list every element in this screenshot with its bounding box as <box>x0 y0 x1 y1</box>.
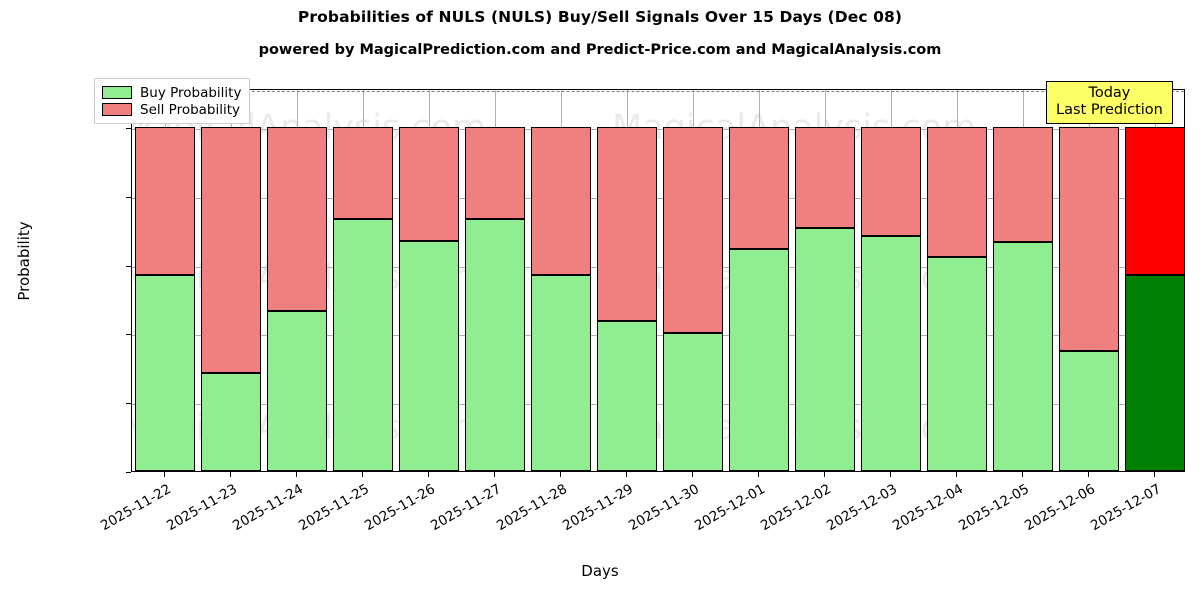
x-tick-mark <box>1022 472 1023 477</box>
bar-series <box>132 90 1184 471</box>
bar-segment-buy[interactable] <box>399 241 459 471</box>
y-tick-mark <box>126 403 131 404</box>
x-tick-mark <box>296 472 297 477</box>
x-tick-mark <box>494 472 495 477</box>
legend-swatch-buy-icon <box>102 86 132 99</box>
x-tick-mark <box>626 472 627 477</box>
today-annotation-line2: Last Prediction <box>1056 102 1163 119</box>
chart-title: Probabilities of NULS (NULS) Buy/Sell Si… <box>0 8 1200 26</box>
x-tick-mark <box>428 472 429 477</box>
bar-group[interactable] <box>267 88 327 471</box>
bar-group[interactable] <box>663 88 723 471</box>
bar-segment-buy[interactable] <box>1125 275 1185 471</box>
bar-segment-sell[interactable] <box>267 127 327 311</box>
bar-group[interactable] <box>795 88 855 471</box>
bar-segment-sell[interactable] <box>1125 127 1185 275</box>
bar-segment-buy[interactable] <box>927 257 987 471</box>
bar-group[interactable] <box>1059 88 1119 471</box>
x-tick-mark <box>1154 472 1155 477</box>
x-tick-mark <box>758 472 759 477</box>
bar-segment-sell[interactable] <box>993 127 1053 242</box>
y-tick-mark <box>126 266 131 267</box>
bar-segment-sell[interactable] <box>1059 127 1119 351</box>
legend-item-sell: Sell Probability <box>102 101 241 118</box>
x-tick-mark <box>230 472 231 477</box>
x-tick-mark <box>560 472 561 477</box>
x-tick-mark <box>362 472 363 477</box>
bar-segment-sell[interactable] <box>927 127 987 257</box>
plot-area: MagicalAnalysis.comMagicalAnalysis.comMa… <box>131 89 1185 472</box>
bar-group[interactable] <box>531 88 591 471</box>
x-tick-mark <box>956 472 957 477</box>
bar-segment-sell[interactable] <box>333 127 393 219</box>
x-tick-mark <box>164 472 165 477</box>
legend: Buy Probability Sell Probability <box>94 78 250 124</box>
bar-segment-sell[interactable] <box>135 127 195 275</box>
bar-segment-sell[interactable] <box>465 127 525 219</box>
today-annotation-line1: Today <box>1056 85 1163 102</box>
y-tick-mark <box>126 334 131 335</box>
bar-segment-buy[interactable] <box>267 311 327 471</box>
x-tick-mark <box>692 472 693 477</box>
y-tick-mark <box>126 128 131 129</box>
bar-group[interactable] <box>333 88 393 471</box>
bar-segment-buy[interactable] <box>993 242 1053 471</box>
bar-segment-buy[interactable] <box>201 373 261 471</box>
chart-root: Probabilities of NULS (NULS) Buy/Sell Si… <box>0 0 1200 600</box>
legend-label-sell: Sell Probability <box>140 102 240 118</box>
bar-group[interactable] <box>399 88 459 471</box>
x-tick-mark <box>1088 472 1089 477</box>
bar-group[interactable] <box>135 88 195 471</box>
bar-segment-sell[interactable] <box>531 127 591 275</box>
bar-segment-buy[interactable] <box>597 321 657 471</box>
bar-segment-buy[interactable] <box>1059 351 1119 471</box>
legend-label-buy: Buy Probability <box>140 85 241 101</box>
bar-segment-sell[interactable] <box>861 127 921 236</box>
bar-segment-buy[interactable] <box>861 236 921 471</box>
bar-segment-sell[interactable] <box>201 127 261 373</box>
legend-item-buy: Buy Probability <box>102 84 241 101</box>
legend-swatch-sell-icon <box>102 103 132 116</box>
bar-segment-buy[interactable] <box>795 228 855 471</box>
today-annotation: Today Last Prediction <box>1046 81 1173 124</box>
bar-group[interactable] <box>927 88 987 471</box>
bar-group[interactable] <box>729 88 789 471</box>
x-tick-mark <box>890 472 891 477</box>
bar-group[interactable] <box>465 88 525 471</box>
x-tick-mark <box>824 472 825 477</box>
bar-group[interactable] <box>1125 88 1185 471</box>
bar-group[interactable] <box>597 88 657 471</box>
bar-segment-buy[interactable] <box>729 249 789 471</box>
bar-group[interactable] <box>993 88 1053 471</box>
x-axis-label: Days <box>0 562 1200 580</box>
bar-segment-buy[interactable] <box>135 275 195 471</box>
bar-segment-sell[interactable] <box>399 127 459 241</box>
y-axis-label: Probability <box>15 71 33 451</box>
y-tick-mark <box>126 472 131 473</box>
bar-group[interactable] <box>201 88 261 471</box>
bar-segment-sell[interactable] <box>663 127 723 333</box>
bar-segment-buy[interactable] <box>663 333 723 471</box>
bar-segment-sell[interactable] <box>597 127 657 321</box>
bar-group[interactable] <box>861 88 921 471</box>
bar-segment-sell[interactable] <box>729 127 789 249</box>
bar-segment-buy[interactable] <box>465 219 525 471</box>
y-tick-mark <box>126 197 131 198</box>
bar-segment-buy[interactable] <box>333 219 393 471</box>
chart-subtitle: powered by MagicalPrediction.com and Pre… <box>0 42 1200 58</box>
bar-segment-buy[interactable] <box>531 275 591 471</box>
bar-segment-sell[interactable] <box>795 127 855 228</box>
